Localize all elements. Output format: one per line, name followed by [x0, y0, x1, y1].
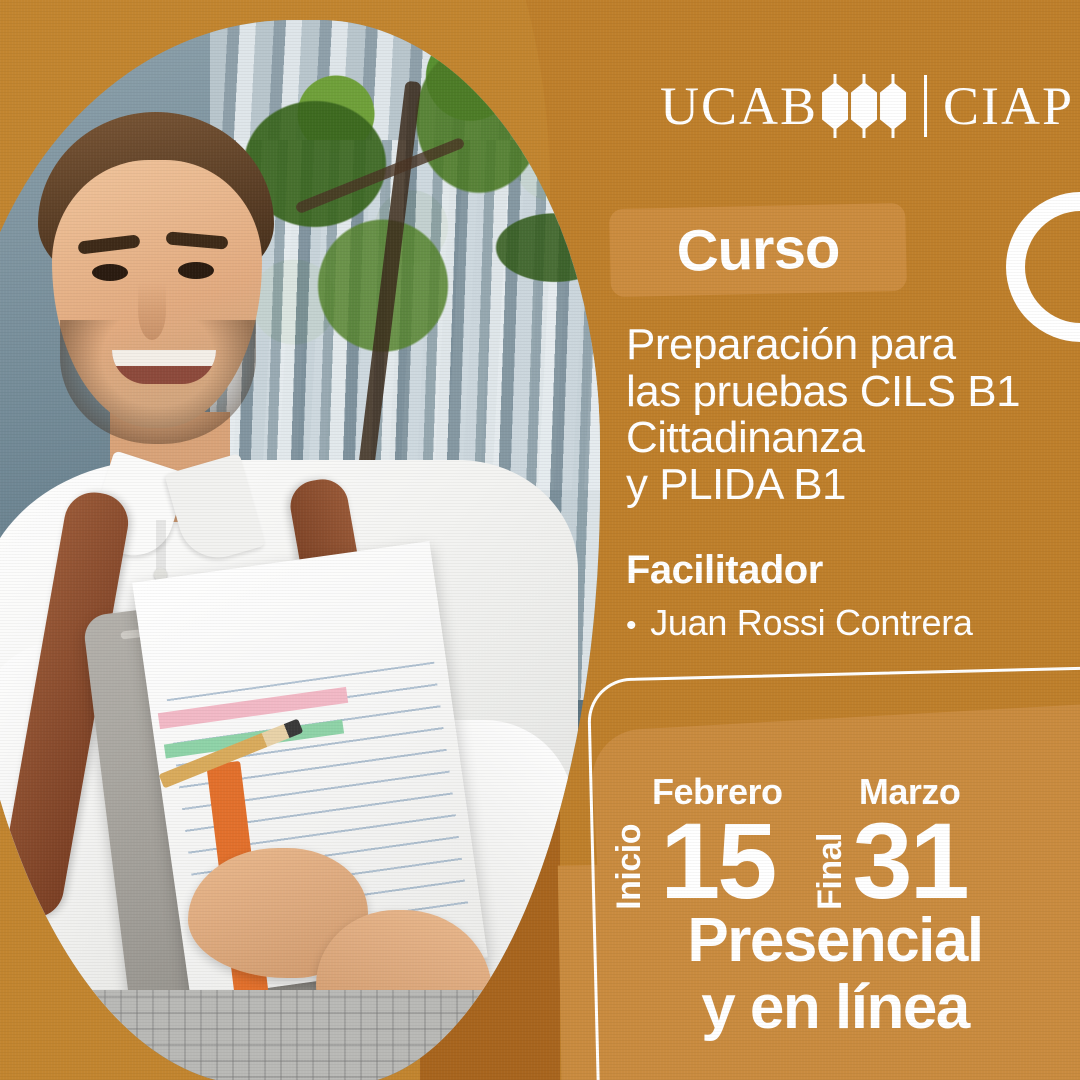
logo-leaf-icon-1 — [822, 74, 848, 138]
logo-leaves-icon — [822, 74, 906, 138]
student-photo — [0, 20, 600, 1080]
start-date-block: Inicio Febrero 15 — [612, 773, 783, 910]
photo-nose — [138, 282, 166, 340]
logo-divider — [924, 75, 927, 137]
student-photo-image — [0, 20, 600, 1080]
photo-eye-right — [178, 262, 214, 279]
dates-group: Inicio Febrero 15 Final Marzo 31 — [612, 740, 1032, 910]
course-title: Preparación para las pruebas CILS B1 Cit… — [626, 322, 1076, 509]
course-title-line-1: Preparación para — [626, 322, 1076, 369]
logo-ucab-text: UCAB — [660, 79, 818, 133]
logo-ciap-text: CIAP — [943, 79, 1074, 133]
end-date-label: Final — [813, 829, 847, 910]
modality-text: Presencial y en línea — [600, 908, 1070, 1042]
facilitator-heading: Facilitador — [626, 548, 823, 593]
facilitator-name: Juan Rossi Contrera — [650, 602, 972, 644]
course-title-line-4: y PLIDA B1 — [626, 462, 1076, 509]
photo-trousers — [88, 990, 558, 1080]
logo-leaf-icon-3 — [880, 74, 906, 138]
course-title-line-2: las pruebas CILS B1 — [626, 369, 1076, 416]
start-date-label: Inicio — [612, 820, 646, 910]
facilitator-list: • Juan Rossi Contrera — [626, 602, 973, 644]
course-title-line-3: Cittadinanza — [626, 415, 1076, 462]
end-date-block: Final Marzo 31 — [813, 773, 967, 910]
logo-leaf-icon-2 — [851, 74, 877, 138]
facilitator-list-item: • Juan Rossi Contrera — [626, 602, 973, 644]
curso-badge: Curso — [609, 203, 907, 297]
start-date-values: Febrero 15 — [652, 773, 783, 910]
bullet-icon: • — [626, 611, 636, 641]
photo-eye-left — [92, 264, 128, 281]
photo-teeth — [112, 350, 216, 366]
curso-badge-label: Curso — [676, 219, 840, 280]
end-date-values: Marzo 31 — [853, 773, 967, 910]
start-date-day: 15 — [660, 811, 774, 910]
end-date-day: 31 — [853, 811, 967, 910]
course-promo-poster: UCAB CIAP Curso Preparación para las pru… — [0, 0, 1080, 1080]
modality-line-1: Presencial — [600, 908, 1070, 975]
ucab-ciap-logo: UCAB CIAP — [660, 74, 1074, 138]
modality-line-2: y en línea — [600, 975, 1070, 1042]
